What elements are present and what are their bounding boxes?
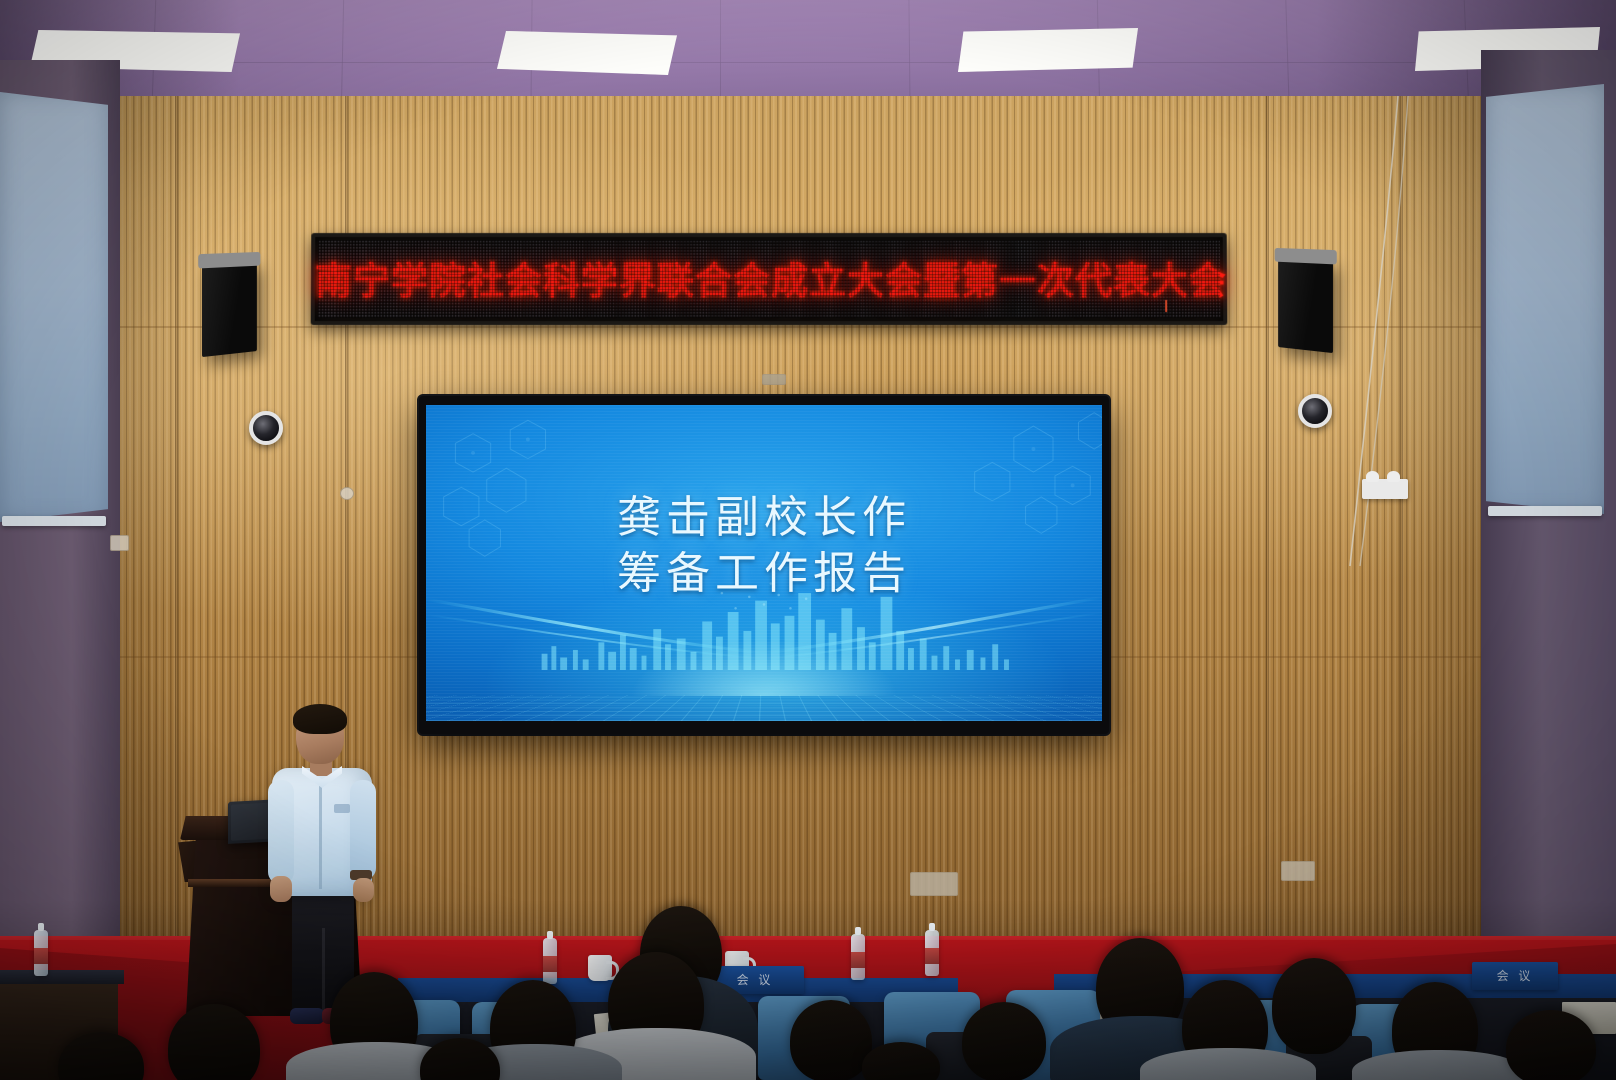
wall-speaker-right: [1278, 257, 1333, 353]
wall-sensor: [340, 487, 354, 500]
audience-head: [962, 1002, 1046, 1080]
led-banner-text: 南宁学院社会科学界联合会成立大会暨第一次代表大会: [315, 251, 1223, 305]
pulldown-screen-left: [0, 92, 108, 522]
projection-screen[interactable]: 龚击副校长作 筹备工作报告: [419, 396, 1109, 734]
wall-seam: [1266, 96, 1269, 1020]
presenter-shirt-placket: [319, 784, 322, 889]
table-left-top: [0, 970, 124, 984]
presenter-shirt-logo: [334, 804, 350, 813]
slide-title-line1: 龚击副校长作: [426, 490, 1102, 545]
bottle-label: [851, 952, 865, 968]
audience-head: [790, 1000, 872, 1080]
screen-weight-bar-left: [2, 516, 106, 526]
wall-outlet-plate: [1281, 861, 1315, 881]
presenter-hair: [293, 704, 347, 734]
presenter-arm: [350, 780, 376, 880]
water-bottle: [851, 934, 865, 980]
screen-weight-bar-right: [1488, 506, 1602, 516]
wall-speaker-left: [202, 261, 257, 357]
ceiling-panel-light: [958, 28, 1138, 72]
slide-glow: [629, 639, 899, 696]
auditorium-scene: 南宁学院社会科学界联合会成立大会暨第一次代表大会: [0, 0, 1616, 1080]
presenter-hand: [270, 876, 292, 902]
water-bottle: [543, 938, 557, 984]
dome-camera-icon: [249, 411, 283, 445]
speaker-body: [1278, 257, 1333, 353]
water-bottle: [925, 930, 939, 976]
bottle-label: [543, 956, 557, 972]
speaker-top: [198, 252, 260, 269]
speaker-body: [202, 261, 257, 357]
dome-camera-icon: [1298, 394, 1332, 428]
water-bottle: [34, 930, 48, 976]
bottle-label: [34, 948, 48, 964]
projector-mount-plate: [762, 374, 786, 385]
paper-cup: [588, 955, 612, 981]
projection-surface: 龚击副校长作 筹备工作报告: [426, 405, 1102, 721]
led-cursor: [1165, 300, 1167, 312]
presenter-hand: [353, 878, 374, 902]
nameplate: 会 议: [1472, 962, 1558, 990]
emergency-light-icon: [1362, 479, 1408, 499]
wall-outlet-plate: [110, 535, 129, 551]
slide-title-line2: 筹备工作报告: [426, 546, 1102, 601]
audience-head: [1272, 958, 1356, 1054]
led-banner: 南宁学院社会科学界联合会成立大会暨第一次代表大会: [311, 233, 1228, 325]
pulldown-screen-right: [1486, 84, 1604, 514]
speaker-top: [1275, 248, 1337, 265]
audience-head: [1506, 1010, 1596, 1080]
presenter-shoe: [290, 1008, 324, 1024]
slide-title: 龚击副校长作 筹备工作报告: [426, 490, 1102, 601]
bottle-label: [925, 948, 939, 964]
wall-outlet-plate: [910, 872, 958, 896]
presenter-leg-seam: [322, 928, 325, 1016]
presenter-arm: [268, 780, 294, 884]
ceiling-panel-light: [497, 31, 677, 75]
